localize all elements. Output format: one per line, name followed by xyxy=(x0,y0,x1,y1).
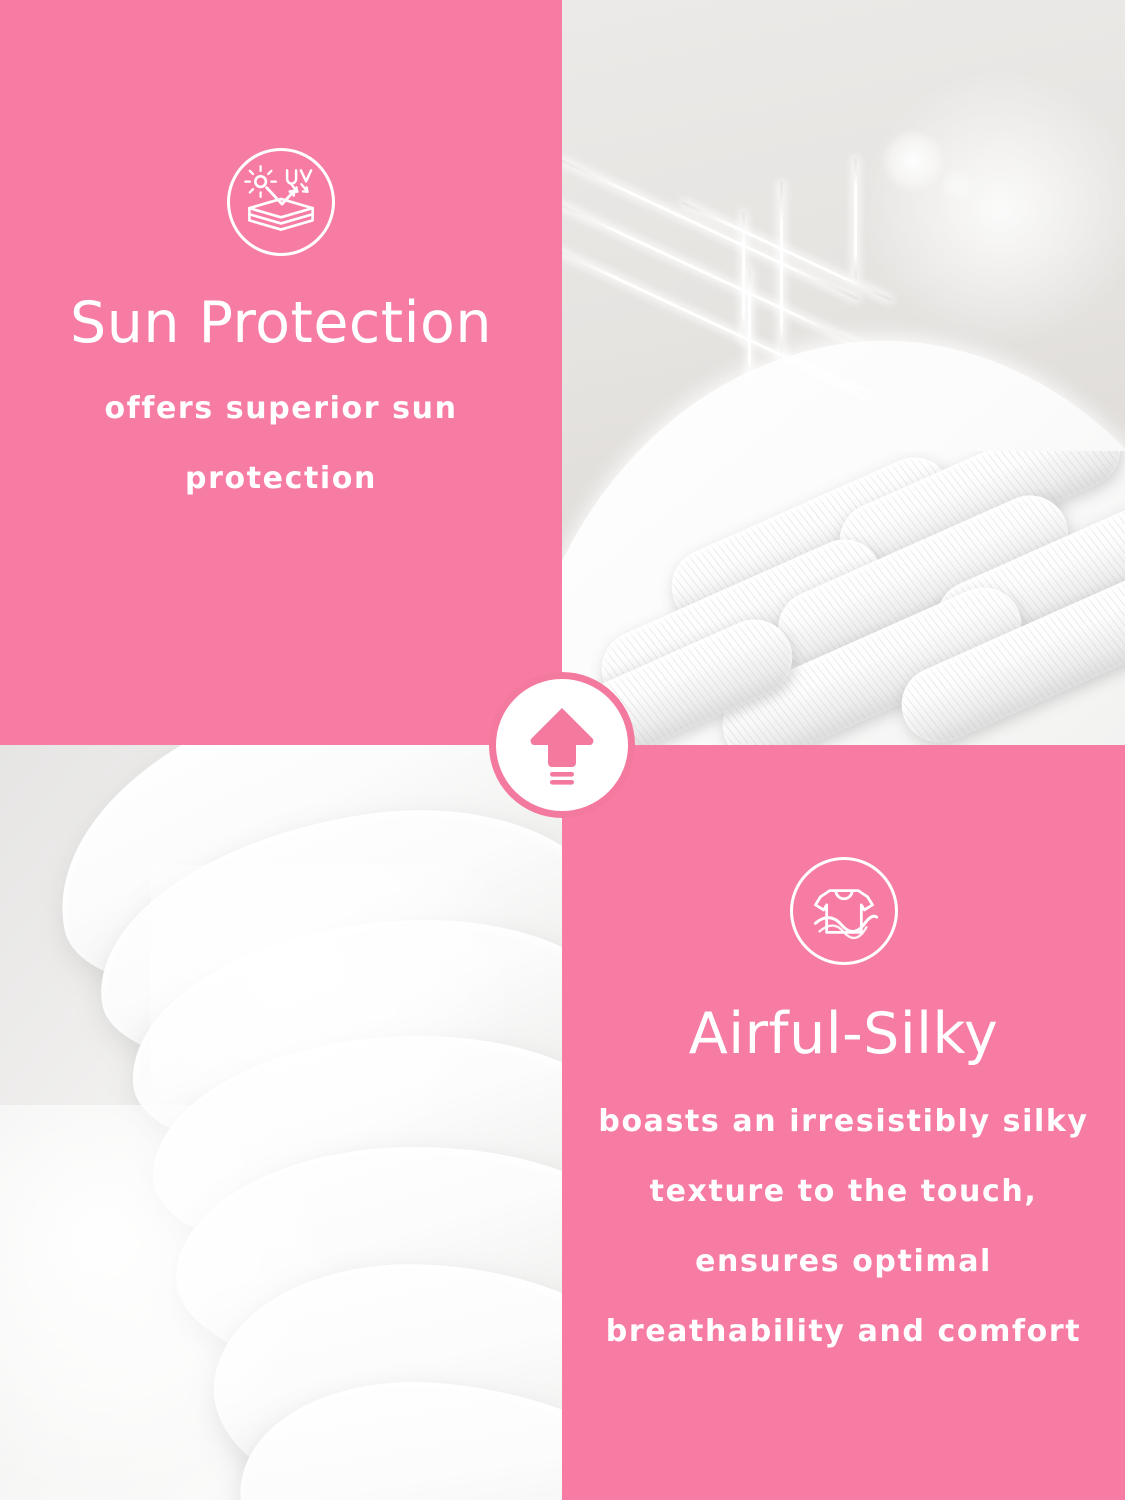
feature-grid-canvas: Sun Protection offers superior sun prote… xyxy=(0,0,1125,1500)
light-ray-vertical xyxy=(742,212,745,342)
panel-description: offers superior sun protection xyxy=(46,374,516,514)
panel-airful-silky: Airful-Silky boasts an irresistibly silk… xyxy=(562,745,1125,1500)
panel-sun-protection: Sun Protection offers superior sun prote… xyxy=(0,0,562,745)
lens-flare xyxy=(880,130,946,192)
center-upgrade-badge xyxy=(489,672,635,818)
light-ray-vertical xyxy=(854,158,857,280)
photo-light-rays-fabric xyxy=(562,0,1125,745)
lens-flare-small xyxy=(940,170,974,202)
tshirt-silky-texture-icon xyxy=(790,857,898,965)
silk-highlight xyxy=(150,865,510,1165)
uv-sun-protection-icon xyxy=(227,148,335,256)
panel-title: Airful-Silky xyxy=(689,1005,998,1065)
light-ray-vertical xyxy=(780,182,783,362)
up-arrow-icon xyxy=(526,703,598,787)
panel-title: Sun Protection xyxy=(70,294,492,354)
braided-cords xyxy=(562,451,1125,745)
panel-description: boasts an irresistibly silky texture to … xyxy=(594,1087,1094,1367)
photo-silk-folds xyxy=(0,745,562,1500)
light-ray-vertical xyxy=(748,268,751,386)
